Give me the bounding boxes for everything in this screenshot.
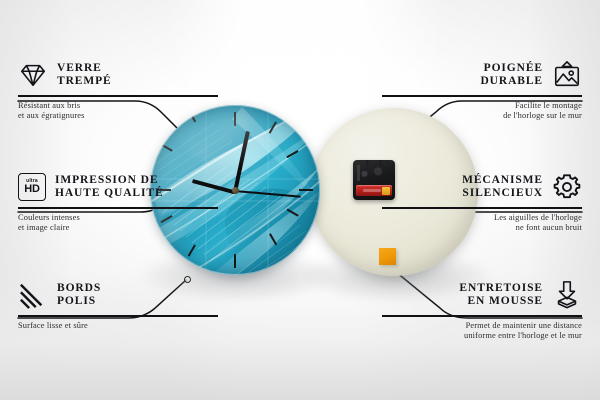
diamond-icon bbox=[18, 60, 48, 90]
feature-header: BORDS POLIS bbox=[18, 278, 218, 312]
feature-title: IMPRESSION DE HAUTE QUALITÉ bbox=[55, 174, 164, 201]
feature-impression-haute-qualite: ultra HD IMPRESSION DE HAUTE QUALITÉ Cou… bbox=[18, 170, 218, 233]
feature-header: ultra HD IMPRESSION DE HAUTE QUALITÉ bbox=[18, 170, 218, 204]
feature-entretoise-en-mousse: ENTRETOISE EN MOUSSE Permet de maintenir… bbox=[382, 278, 582, 341]
feature-header: VERRE TREMPÉ bbox=[18, 58, 218, 92]
feature-description: Résistant aux bris et aux égratignures bbox=[18, 101, 218, 122]
clock-center-cap bbox=[232, 187, 239, 194]
feature-poignee-durable: POIGNÉE DURABLE Facilite le montage de l… bbox=[382, 58, 582, 121]
feature-divider bbox=[382, 95, 582, 97]
badge-text-hd: HD bbox=[24, 184, 40, 195]
feature-header: ENTRETOISE EN MOUSSE bbox=[382, 278, 582, 312]
arrow-down-onto-pad-icon bbox=[552, 280, 582, 310]
feature-divider bbox=[18, 207, 218, 209]
feature-description: Facilite le montage de l'horloge sur le … bbox=[382, 101, 582, 122]
feature-bords-polis: BORDS POLIS Surface lisse et sûre bbox=[18, 278, 218, 331]
feature-title: MÉCANISME SILENCIEUX bbox=[462, 174, 543, 201]
feature-description: Couleurs intenses et image claire bbox=[18, 213, 218, 234]
feature-description: Permet de maintenir une distance uniform… bbox=[382, 321, 582, 342]
foam-spacer bbox=[379, 248, 396, 265]
diagonal-stripes-icon bbox=[18, 280, 48, 310]
feature-title: ENTRETOISE EN MOUSSE bbox=[459, 282, 543, 309]
feature-title: VERRE TREMPÉ bbox=[57, 62, 112, 89]
feature-mecanisme-silencieux: MÉCANISME SILENCIEUX Les aiguilles de l'… bbox=[382, 170, 582, 233]
feature-divider bbox=[382, 315, 582, 317]
feature-verre-trempe: VERRE TREMPÉ Résistant aux bris et aux é… bbox=[18, 58, 218, 121]
gear-icon bbox=[552, 172, 582, 202]
ultra-hd-badge-icon: ultra HD bbox=[18, 173, 46, 201]
feature-description: Surface lisse et sûre bbox=[18, 321, 218, 331]
feature-title: BORDS POLIS bbox=[57, 282, 101, 309]
feature-divider bbox=[18, 95, 218, 97]
feature-description: Les aiguilles de l'horloge ne font aucun… bbox=[382, 213, 582, 234]
feature-divider bbox=[18, 315, 218, 317]
hanging-picture-frame-icon bbox=[552, 60, 582, 90]
product-infographic: VERRE TREMPÉ Résistant aux bris et aux é… bbox=[0, 0, 600, 400]
feature-divider bbox=[382, 207, 582, 209]
feature-header: MÉCANISME SILENCIEUX bbox=[382, 170, 582, 204]
feature-header: POIGNÉE DURABLE bbox=[382, 58, 582, 92]
feature-title: POIGNÉE DURABLE bbox=[480, 62, 543, 89]
